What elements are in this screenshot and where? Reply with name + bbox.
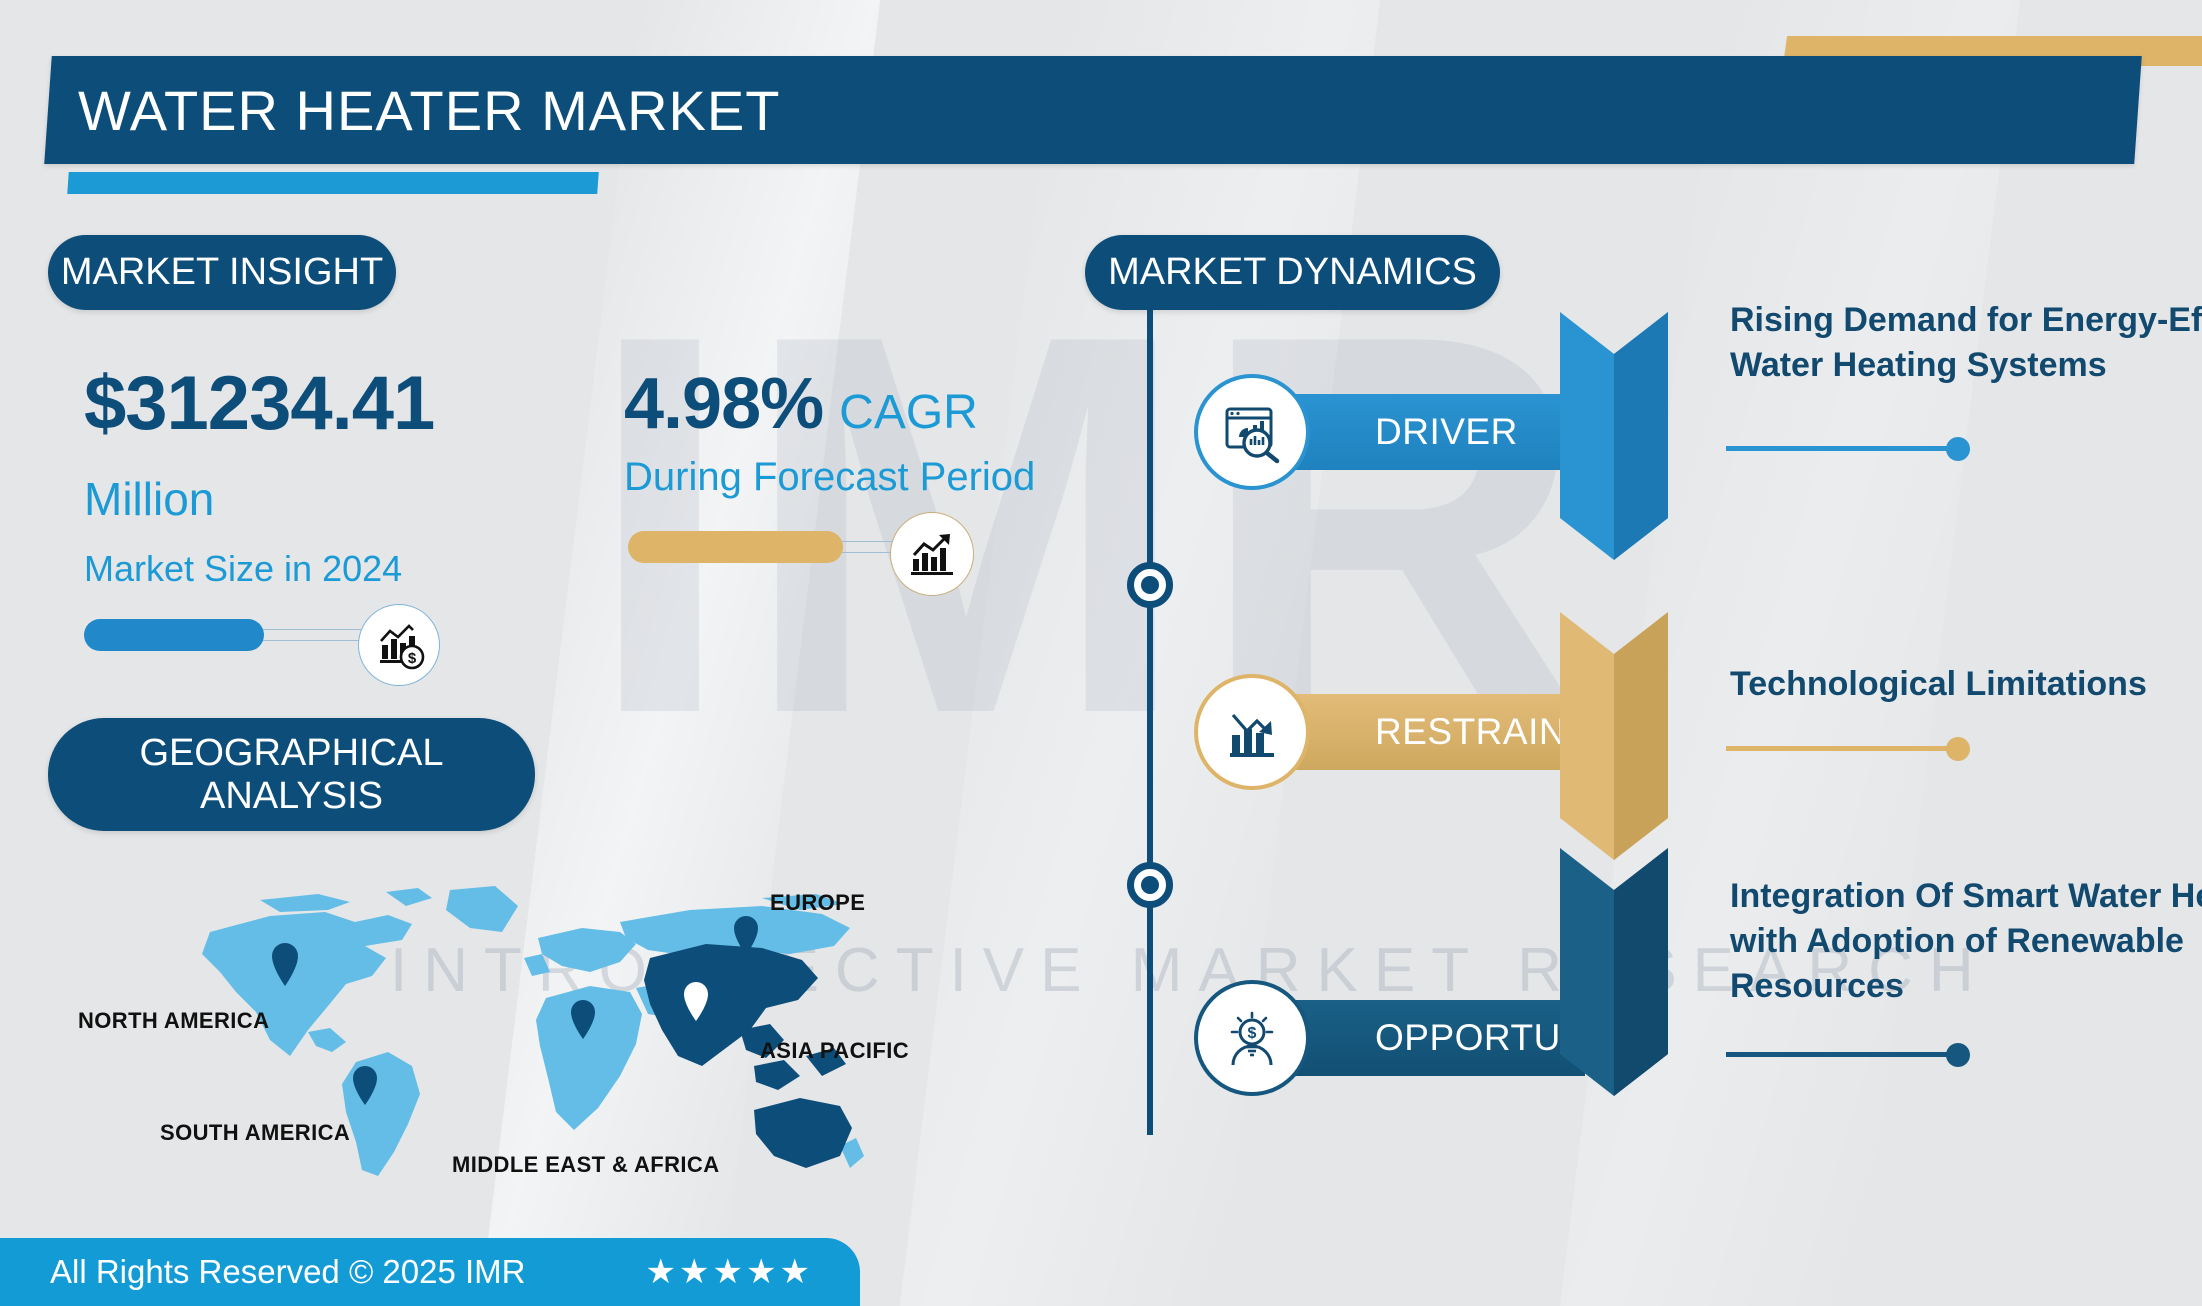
restraint-underline-dot xyxy=(1946,737,1970,761)
opportunity-chevron xyxy=(1560,848,1668,1096)
market-size-value: $31234.41 xyxy=(84,360,434,447)
map-label-south-america: SOUTH AMERICA xyxy=(160,1120,350,1146)
geographical-analysis-pill: GEOGRAPHICAL ANALYSIS xyxy=(48,718,535,831)
star-rating-icon: ★★★★★ xyxy=(646,1252,813,1292)
cagr-subtitle: During Forecast Period xyxy=(624,455,1035,500)
driver-underline xyxy=(1726,446,1958,451)
header-underline-accent xyxy=(67,172,599,194)
cagr-label: CAGR xyxy=(839,385,978,440)
restraint-underline xyxy=(1726,746,1958,751)
chart-search-icon xyxy=(1198,378,1306,486)
cagr-value: 4.98% xyxy=(624,363,823,445)
cagr-row: 4.98% CAGR xyxy=(624,363,978,445)
background-sheen xyxy=(900,0,1380,1306)
restraint-text: Technological Limitations xyxy=(1730,662,2202,707)
svg-text:$: $ xyxy=(408,650,417,667)
geo-pill-line1: GEOGRAPHICAL xyxy=(139,732,443,775)
bar-chart-dollar-icon: $ xyxy=(358,604,440,686)
market-insight-pill: MARKET INSIGHT xyxy=(48,235,396,310)
footer-bar: All Rights Reserved © 2025 IMR ★★★★★ xyxy=(0,1238,860,1306)
restraint-chevron xyxy=(1560,612,1668,860)
market-dynamics-label: MARKET DYNAMICS xyxy=(1108,251,1477,294)
market-insight-label: MARKET INSIGHT xyxy=(61,251,383,294)
opportunity-underline xyxy=(1726,1052,1958,1057)
footer-copyright: All Rights Reserved © 2025 IMR xyxy=(50,1253,526,1291)
geo-pill-line2: ANALYSIS xyxy=(200,775,383,818)
timeline-node xyxy=(1127,562,1173,608)
opportunity-underline-dot xyxy=(1946,1043,1970,1067)
map-label-europe: EUROPE xyxy=(770,890,865,916)
map-label-middle-east-africa: MIDDLE EAST & AFRICA xyxy=(452,1152,720,1178)
driver-text: Rising Demand for Energy-Efficient Water… xyxy=(1730,298,2202,388)
cagr-progress-fill xyxy=(628,531,843,563)
map-label-north-america: NORTH AMERICA xyxy=(78,1008,269,1034)
page-title: WATER HEATER MARKET xyxy=(78,78,780,143)
growth-arrow-icon xyxy=(890,512,974,596)
dynamics-timeline-spine xyxy=(1147,305,1153,1135)
map-label-asia-pacific: ASIA PACIFIC xyxy=(760,1038,909,1064)
svg-text:$: $ xyxy=(1248,1025,1257,1042)
timeline-node xyxy=(1127,862,1173,908)
lightbulb-dollar-icon: $ xyxy=(1198,984,1306,1092)
driver-underline-dot xyxy=(1946,437,1970,461)
market-size-progress-fill xyxy=(84,619,264,651)
market-size-caption: Market Size in 2024 xyxy=(84,548,402,590)
opportunity-text: Integration Of Smart Water Heater with A… xyxy=(1730,874,2202,1010)
driver-chevron xyxy=(1560,312,1668,560)
market-size-unit: Million xyxy=(84,472,214,526)
declining-bar-chart-icon xyxy=(1198,678,1306,786)
infographic-canvas: IMR INTROSPECTIVE MARKET RESEARCH WATER … xyxy=(0,0,2202,1306)
market-dynamics-pill: MARKET DYNAMICS xyxy=(1085,235,1500,310)
